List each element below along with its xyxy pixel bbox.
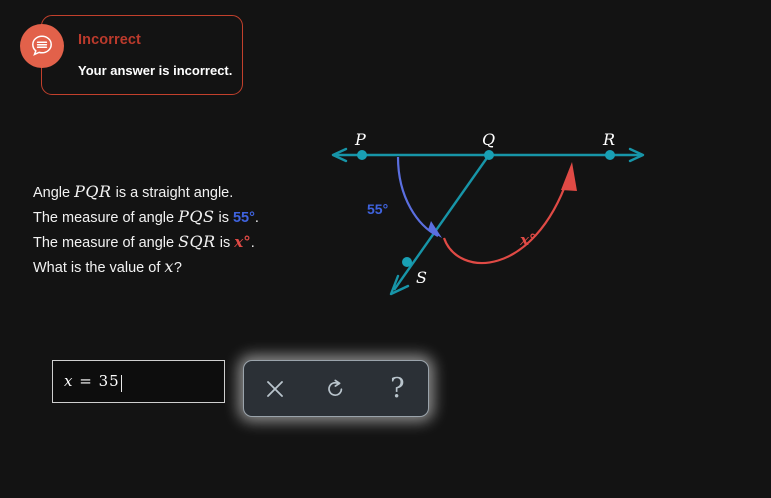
problem-line-2: The measure of angle PQS is 55°.: [33, 205, 333, 230]
problem-line-3: The measure of angle SQR is x°.: [33, 230, 333, 255]
problem-statement: Angle PQR is a straight angle. The measu…: [33, 180, 333, 280]
line4-post: ?: [174, 260, 182, 276]
line1-post: is a straight angle.: [112, 185, 234, 201]
undo-button[interactable]: [314, 369, 358, 409]
line2-mid: is: [214, 210, 233, 226]
line4-pre: What is the value of: [33, 260, 164, 276]
arc-angle-pqs: [398, 157, 442, 238]
angle-55-label: 55°: [367, 201, 388, 217]
alert-message: Your answer is incorrect.: [78, 63, 232, 78]
clear-button[interactable]: [253, 369, 297, 409]
point-label-s: S: [416, 268, 427, 287]
ray-qs: [391, 155, 489, 294]
line3-mid: is: [216, 235, 235, 251]
question-mark-icon: ?: [390, 375, 404, 402]
point-label-p: P: [355, 130, 366, 149]
line3-post: .: [251, 235, 255, 251]
point-p-dot: [357, 150, 367, 160]
point-label-q: Q: [482, 130, 495, 149]
line2-measure-value: 55°: [233, 210, 255, 226]
chat-bubble-icon: [20, 24, 64, 68]
undo-icon: [325, 378, 346, 399]
line3-angle-name: SQR: [178, 232, 216, 251]
line1-pre: Angle: [33, 185, 74, 201]
alert-title: Incorrect: [78, 32, 141, 48]
line3-pre: The measure of angle: [33, 235, 178, 251]
close-icon: [265, 379, 285, 399]
arc-angle-sqr: [444, 162, 577, 263]
point-q-dot: [484, 150, 494, 160]
incorrect-alert-banner: Incorrect Your answer is incorrect.: [41, 15, 243, 95]
tool-palette: ?: [243, 360, 429, 417]
line3-measure-value: x°: [234, 233, 250, 251]
line2-angle-name: PQS: [178, 207, 214, 226]
answer-equals: =: [79, 372, 93, 390]
problem-line-1: Angle PQR is a straight angle.: [33, 180, 333, 205]
point-label-r: R: [603, 130, 615, 149]
point-r-dot: [605, 150, 615, 160]
answer-expression: x = 35: [64, 372, 122, 391]
help-button[interactable]: ?: [375, 369, 419, 409]
line2-post: .: [255, 210, 259, 226]
problem-line-4: What is the value of x?: [33, 255, 333, 280]
line2-pre: The measure of angle: [33, 210, 178, 226]
answer-variable: x: [64, 372, 73, 390]
point-s-dot: [402, 257, 412, 267]
answer-input[interactable]: x = 35: [52, 360, 225, 403]
text-caret: [121, 375, 122, 392]
line1-angle-name: PQR: [74, 182, 111, 201]
geometry-diagram: P Q R S 55° x°: [318, 118, 658, 303]
angle-x-label: x°: [520, 231, 536, 249]
answer-value-text: 35: [99, 372, 120, 390]
line4-unknown: x: [164, 257, 174, 276]
